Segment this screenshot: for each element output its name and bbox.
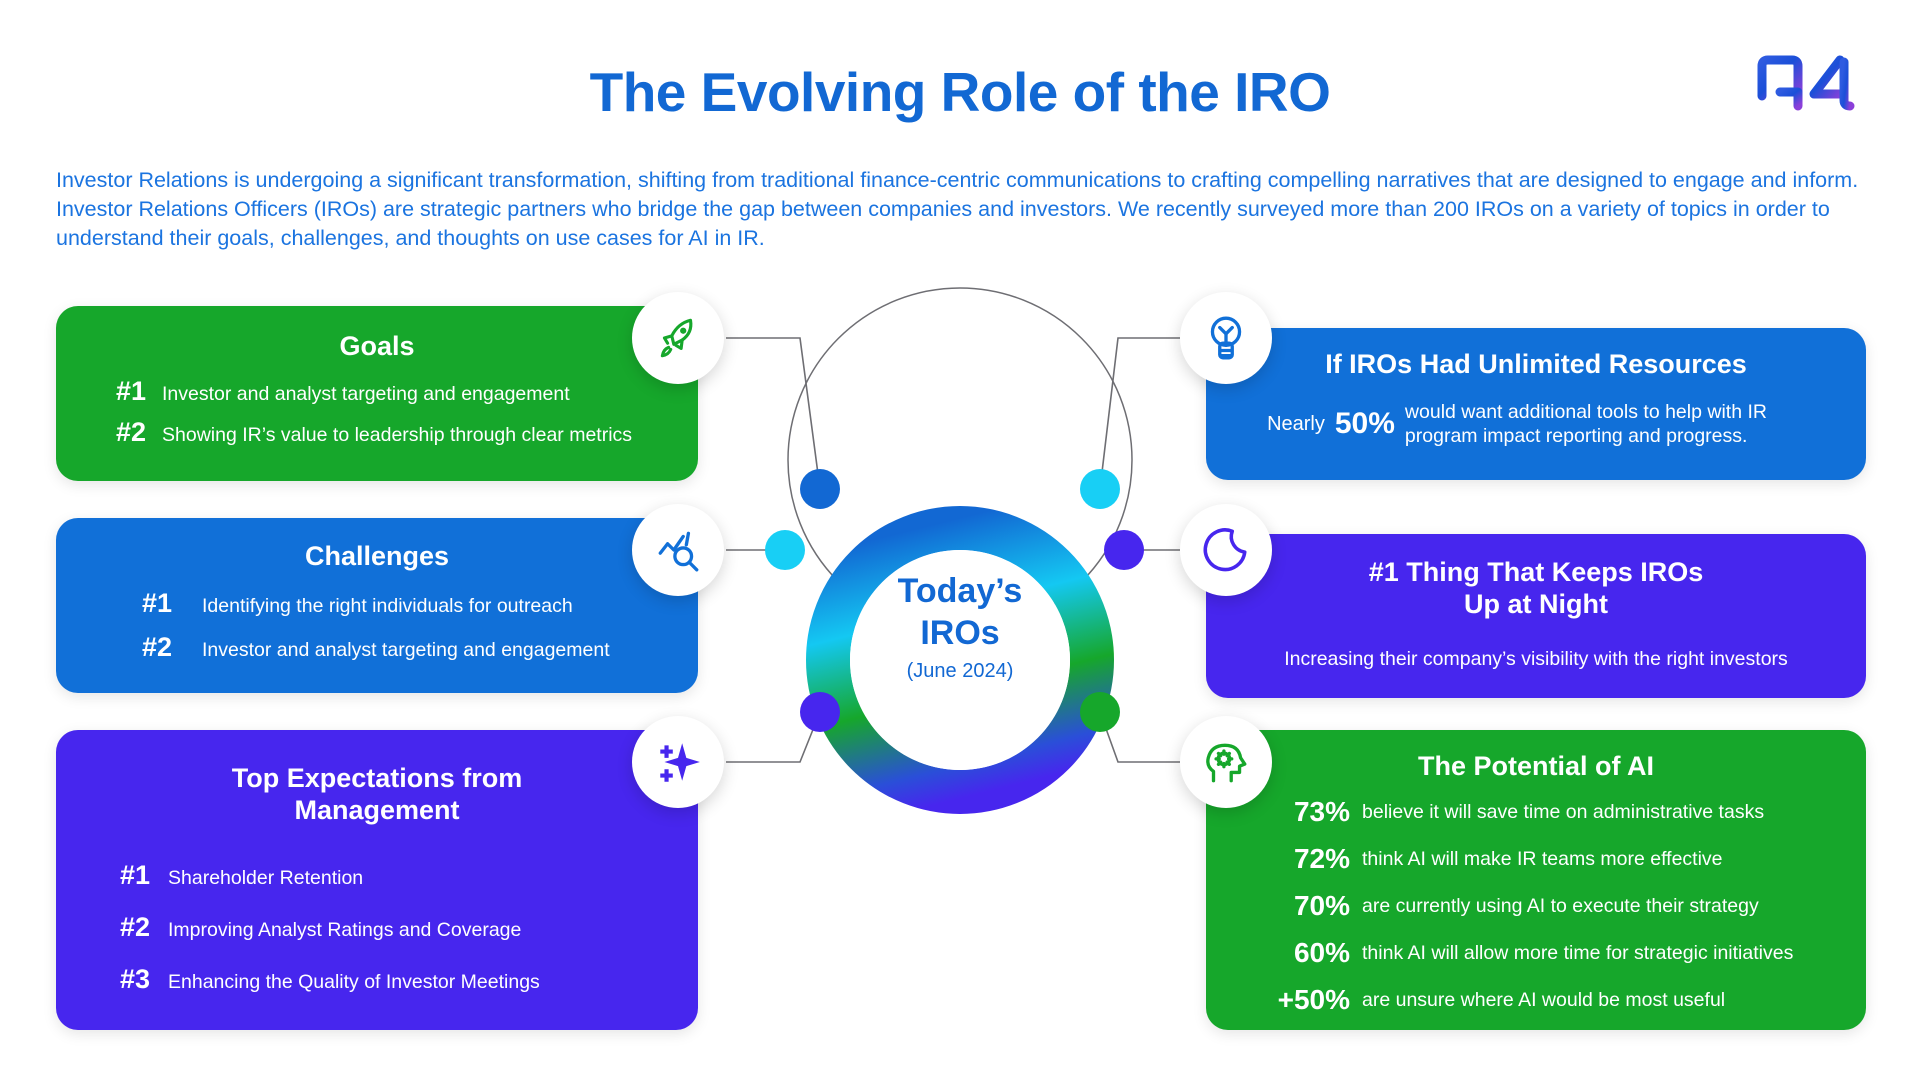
list-item: 73% believe it will save time on adminis… [1232, 796, 1840, 828]
stat-text: are currently using AI to execute their … [1362, 895, 1759, 918]
sparkle-icon-bubble [632, 716, 724, 808]
infographic-page: The Evolving Role of the IRO Investor Re… [0, 0, 1920, 1080]
stat-line: Nearly 50% would want additional tools t… [1232, 400, 1840, 448]
brain-gear-icon-bubble [1180, 716, 1272, 808]
intro-paragraph: Investor Relations is undergoing a signi… [56, 166, 1866, 253]
stat-value: +50% [1232, 984, 1350, 1016]
title-line-2: Management [82, 794, 672, 826]
lightbulb-icon [1201, 313, 1251, 363]
card-challenges-list: #1 Identifying the right individuals for… [82, 588, 672, 663]
rank-text: Identifying the right individuals for ou… [202, 595, 573, 618]
card-night-title: #1 Thing That Keeps IROs Up at Night [1232, 556, 1840, 620]
moon-icon-bubble [1180, 504, 1272, 596]
card-top-expectations[interactable]: Top Expectations from Management #1 Shar… [56, 730, 698, 1030]
rank-text: Showing IR’s value to leadership through… [162, 424, 632, 447]
list-item: #1 Shareholder Retention [120, 860, 672, 891]
list-item: #1 Investor and analyst targeting and en… [116, 376, 672, 407]
list-item: 60% think AI will allow more time for st… [1232, 937, 1840, 969]
card-night-subtitle: Increasing their company’s visibility wi… [1232, 648, 1840, 671]
brain-gear-icon [1201, 737, 1251, 787]
rank-label: #2 [120, 912, 168, 943]
lightbulb-icon-bubble [1180, 292, 1272, 384]
card-top-expectations-title: Top Expectations from Management [82, 762, 672, 826]
card-challenges-title: Challenges [82, 540, 672, 572]
card-potential-of-ai-title: The Potential of AI [1232, 750, 1840, 782]
card-potential-of-ai-list: 73% believe it will save time on adminis… [1232, 796, 1840, 1016]
chart-search-icon-bubble [632, 504, 724, 596]
stat-value: 60% [1232, 937, 1350, 969]
card-unlimited-resources-title: If IROs Had Unlimited Resources [1232, 348, 1840, 380]
list-item: #3 Enhancing the Quality of Investor Mee… [120, 964, 672, 995]
card-goals-title: Goals [82, 330, 672, 362]
rank-label: #1 [142, 588, 202, 619]
title-line-2: Up at Night [1232, 588, 1840, 620]
list-item: #2 Improving Analyst Ratings and Coverag… [120, 912, 672, 943]
stat-text: are unsure where AI would be most useful [1362, 989, 1725, 1012]
center-hub: Today’s IROs (June 2024) [752, 452, 1168, 868]
q4-logo [1740, 42, 1872, 124]
stat-suffix: would want additional tools to help with… [1405, 400, 1805, 448]
rank-label: #3 [120, 964, 168, 995]
card-unlimited-resources[interactable]: If IROs Had Unlimited Resources Nearly 5… [1206, 328, 1866, 480]
card-challenges[interactable]: Challenges #1 Identifying the right indi… [56, 518, 698, 693]
stat-prefix: Nearly [1267, 413, 1325, 436]
card-goals[interactable]: Goals #1 Investor and analyst targeting … [56, 306, 698, 481]
chart-search-icon [653, 525, 703, 575]
sparkle-icon [653, 737, 703, 787]
rank-text: Investor and analyst targeting and engag… [162, 383, 570, 406]
card-top-expectations-list: #1 Shareholder Retention #2 Improving An… [82, 860, 672, 995]
rank-text: Investor and analyst targeting and engag… [202, 639, 610, 662]
list-item: #1 Identifying the right individuals for… [142, 588, 672, 619]
rank-text: Shareholder Retention [168, 867, 363, 890]
rocket-icon-bubble [632, 292, 724, 384]
rank-text: Improving Analyst Ratings and Coverage [168, 919, 521, 942]
list-item: +50% are unsure where AI would be most u… [1232, 984, 1840, 1016]
rank-label: #1 [116, 376, 162, 407]
rank-label: #2 [116, 417, 162, 448]
card-keeps-iros-up-at-night[interactable]: #1 Thing That Keeps IROs Up at Night Inc… [1206, 534, 1866, 698]
rank-text: Enhancing the Quality of Investor Meetin… [168, 971, 540, 994]
title-line-1: #1 Thing That Keeps IROs [1232, 556, 1840, 588]
list-item: #2 Showing IR’s value to leadership thro… [116, 417, 672, 448]
rank-label: #1 [120, 860, 168, 891]
list-item: 70% are currently using AI to execute th… [1232, 890, 1840, 922]
stat-value: 72% [1232, 843, 1350, 875]
card-goals-list: #1 Investor and analyst targeting and en… [82, 376, 672, 448]
stat-text: think AI will make IR teams more effecti… [1362, 848, 1723, 871]
title-line-1: Top Expectations from [82, 762, 672, 794]
stat-value: 50% [1335, 407, 1395, 441]
card-potential-of-ai[interactable]: The Potential of AI 73% believe it will … [1206, 730, 1866, 1030]
stat-text: think AI will allow more time for strate… [1362, 942, 1793, 965]
stat-value: 70% [1232, 890, 1350, 922]
list-item: 72% think AI will make IR teams more eff… [1232, 843, 1840, 875]
stat-text: believe it will save time on administrat… [1362, 801, 1764, 824]
moon-icon [1201, 525, 1251, 575]
rocket-icon [653, 313, 703, 363]
list-item: #2 Investor and analyst targeting and en… [142, 632, 672, 663]
page-title: The Evolving Role of the IRO [0, 60, 1920, 124]
rank-label: #2 [142, 632, 202, 663]
